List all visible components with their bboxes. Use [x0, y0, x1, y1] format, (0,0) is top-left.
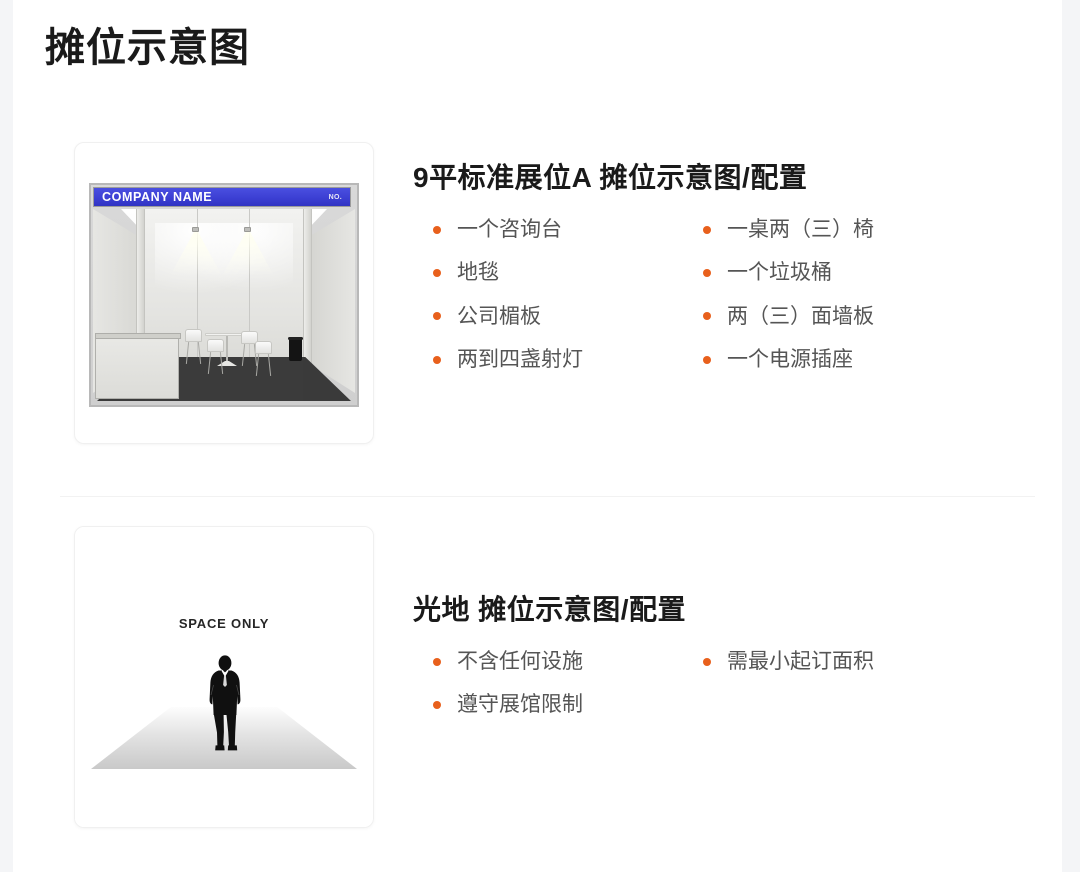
counter-top [95, 333, 181, 339]
feature-list-standard: 一个咨询台 一桌两（三）椅 地毯 一个垃圾桶 公司楣板 [433, 216, 1033, 373]
bullet-dot-icon [703, 226, 711, 234]
feature-label: 需最小起订面积 [727, 648, 874, 675]
bullet-dot-icon [433, 658, 441, 666]
page-title: 摊位示意图 [45, 24, 250, 72]
feature-item: 遵守展馆限制 [433, 691, 703, 718]
feature-item: 地毯 [433, 259, 703, 286]
feature-label: 公司楣板 [457, 303, 541, 330]
feature-item: 需最小起订面积 [703, 648, 973, 675]
bullet-dot-icon [703, 312, 711, 320]
booth-table-stem [226, 336, 228, 362]
booth-chair-legs [255, 354, 272, 376]
space-only-illustration: SPACE ONLY [75, 527, 373, 827]
section-divider [60, 496, 1035, 497]
feature-item: 两到四盏射灯 [433, 346, 703, 373]
booth-chair-icon [207, 339, 224, 352]
person-silhouette-icon [206, 655, 244, 753]
feature-item: 一个垃圾桶 [703, 259, 973, 286]
feature-item: 不含任何设施 [433, 648, 703, 675]
feature-label: 一个电源插座 [727, 346, 853, 373]
booth-render: COMPANY NAME NO. [89, 183, 359, 407]
bullet-dot-icon [433, 226, 441, 234]
feature-list-space-only: 不含任何设施 需最小起订面积 遵守展馆限制 [433, 648, 1033, 719]
booth-section-standard: COMPANY NAME NO. 9平标准展位A 摊位示意图/配置 一个咨询台 … [13, 128, 1062, 478]
feature-item: 一个电源插座 [703, 346, 973, 373]
bullet-dot-icon [433, 312, 441, 320]
spotlight-icon [244, 227, 251, 232]
booth-chair-legs [207, 352, 224, 374]
bullet-dot-icon [433, 356, 441, 364]
bullet-dot-icon [703, 269, 711, 277]
bullet-dot-icon [703, 356, 711, 364]
feature-item: 一个咨询台 [433, 216, 703, 243]
bullet-dot-icon [703, 658, 711, 666]
spotlight-icon [192, 227, 199, 232]
section-title-standard: 9平标准展位A 摊位示意图/配置 [413, 156, 807, 196]
booth-chair-icon [255, 341, 272, 354]
feature-label: 一桌两（三）椅 [727, 216, 874, 243]
booth-chair-icon [185, 329, 202, 342]
booth-chair-legs [185, 342, 202, 364]
feature-label: 两到四盏射灯 [457, 346, 583, 373]
booth-fascia-banner: COMPANY NAME NO. [93, 187, 351, 207]
feature-label: 地毯 [457, 259, 499, 286]
booth-thumbnail-card-space-only[interactable]: SPACE ONLY [74, 526, 374, 828]
feature-label: 两（三）面墙板 [727, 303, 874, 330]
feature-label: 一个咨询台 [457, 216, 562, 243]
booth-thumbnail-card-standard[interactable]: COMPANY NAME NO. [74, 142, 374, 444]
wall-light-glow [155, 223, 293, 303]
booth-section-space-only: SPACE ONLY [13, 512, 1062, 842]
bullet-dot-icon [433, 701, 441, 709]
section-title-space-only: 光地 摊位示意图/配置 [413, 588, 686, 628]
feature-label: 不含任何设施 [457, 648, 583, 675]
booth-reception-counter [95, 333, 179, 399]
feature-item: 两（三）面墙板 [703, 303, 973, 330]
booth-trash-bin-icon [289, 339, 302, 361]
bullet-dot-icon [433, 269, 441, 277]
feature-label: 遵守展馆限制 [457, 691, 583, 718]
feature-item: 一桌两（三）椅 [703, 216, 973, 243]
feature-item: 公司楣板 [433, 303, 703, 330]
booth-illustration: COMPANY NAME NO. [75, 143, 373, 443]
feature-label: 一个垃圾桶 [727, 259, 832, 286]
page-surface: 摊位示意图 [13, 0, 1062, 872]
fascia-booth-number-label: NO. [329, 194, 342, 201]
space-only-label: SPACE ONLY [75, 616, 373, 631]
fascia-company-name: COMPANY NAME [102, 190, 212, 204]
